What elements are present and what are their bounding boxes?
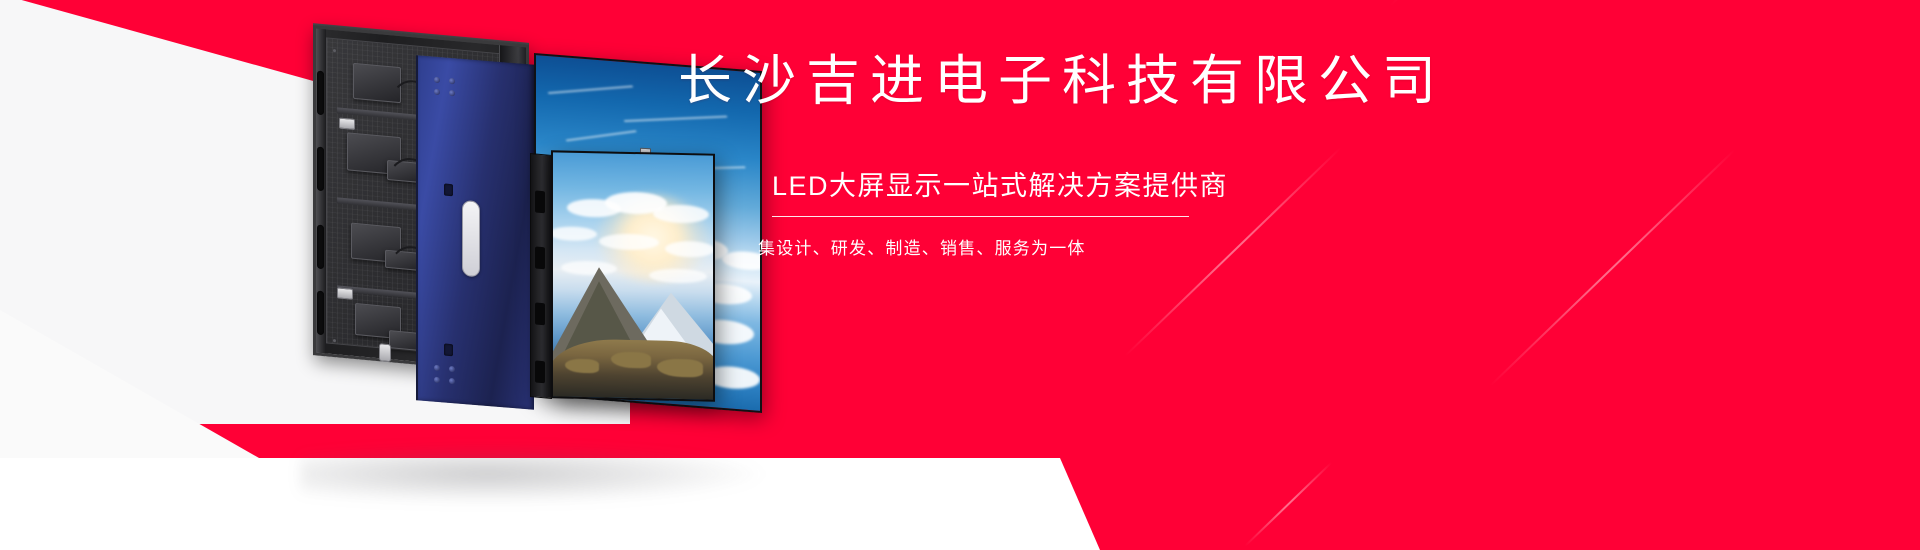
cable-connector	[339, 118, 355, 130]
blue-side-frame	[416, 55, 534, 409]
frame-vent	[444, 343, 453, 356]
sub-tagline: 集设计、研发、制造、销售、服务为一体	[678, 234, 1578, 259]
cabinet-slot	[317, 147, 324, 192]
cirrus-wisp	[566, 130, 637, 141]
cable-connector	[337, 287, 353, 299]
frame-screw-group	[434, 365, 455, 373]
company-title: 长沙吉进电子科技有限公司	[678, 52, 1578, 110]
product-floor-shadow	[300, 444, 770, 504]
led-panel-sky-side	[416, 55, 534, 409]
cabinet-left-strip	[316, 28, 326, 353]
led-panel-product-group	[0, 0, 780, 550]
cabinet-slot	[317, 291, 324, 336]
frame-notch	[535, 302, 545, 325]
tagline: LED大屏显示一站式解决方案提供商	[772, 164, 1578, 203]
banner-text-block: 长沙吉进电子科技有限公司 LED大屏显示一站式解决方案提供商 集设计、研发、制造…	[678, 52, 1578, 276]
hero-banner: 长沙吉进电子科技有限公司 LED大屏显示一站式解决方案提供商 集设计、研发、制造…	[0, 0, 1920, 550]
screw-dot	[333, 339, 336, 342]
tagline-wrapper: LED大屏显示一站式解决方案提供商	[678, 164, 1578, 217]
frame-screw-group	[434, 77, 455, 85]
frame-notch	[535, 190, 545, 213]
frame-notch	[535, 246, 545, 269]
frame-screw-group	[434, 89, 455, 97]
cabinet-slot	[317, 225, 324, 270]
cloud-puff	[551, 226, 597, 241]
tagline-divider	[772, 216, 1189, 217]
screw-dot	[333, 49, 336, 52]
frame-vent	[444, 183, 453, 196]
cirrus-wisp	[548, 85, 633, 94]
cabinet-slot	[317, 71, 324, 116]
led-panel-mountain-side	[530, 153, 552, 399]
frame-notch	[535, 360, 545, 383]
frame-screw-group	[434, 377, 455, 385]
power-plug	[379, 343, 391, 362]
panel-handle	[462, 200, 480, 277]
